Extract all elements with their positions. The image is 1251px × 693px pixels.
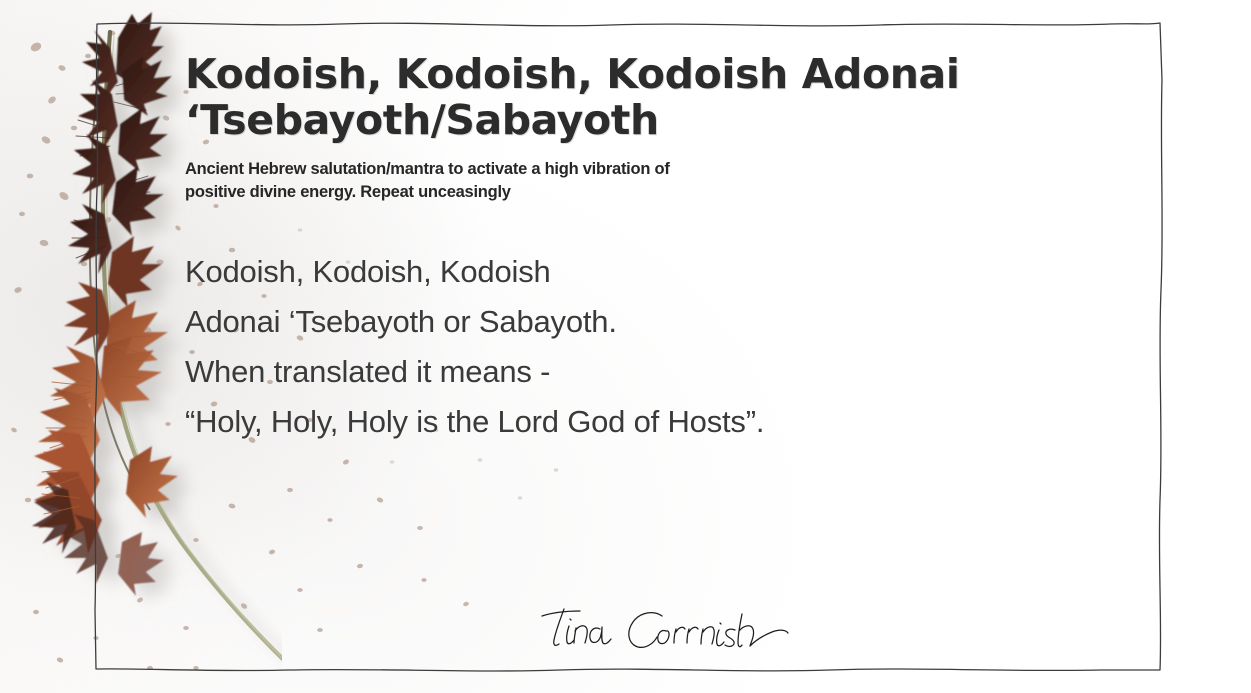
slide-content: Kodoish, Kodoish, Kodoish Adonai ‘Tsebay… [185, 52, 1045, 448]
signature-tina-cornish [536, 602, 796, 654]
signature-script-icon [536, 602, 796, 654]
page-subtitle: Ancient Hebrew salutation/mantra to acti… [185, 158, 905, 205]
slide-canvas: Kodoish, Kodoish, Kodoish Adonai ‘Tsebay… [0, 0, 1251, 693]
page-title: Kodoish, Kodoish, Kodoish Adonai ‘Tsebay… [185, 52, 1045, 144]
body-paragraph: Kodoish, Kodoish, Kodoish Adonai ‘Tsebay… [185, 247, 1045, 448]
